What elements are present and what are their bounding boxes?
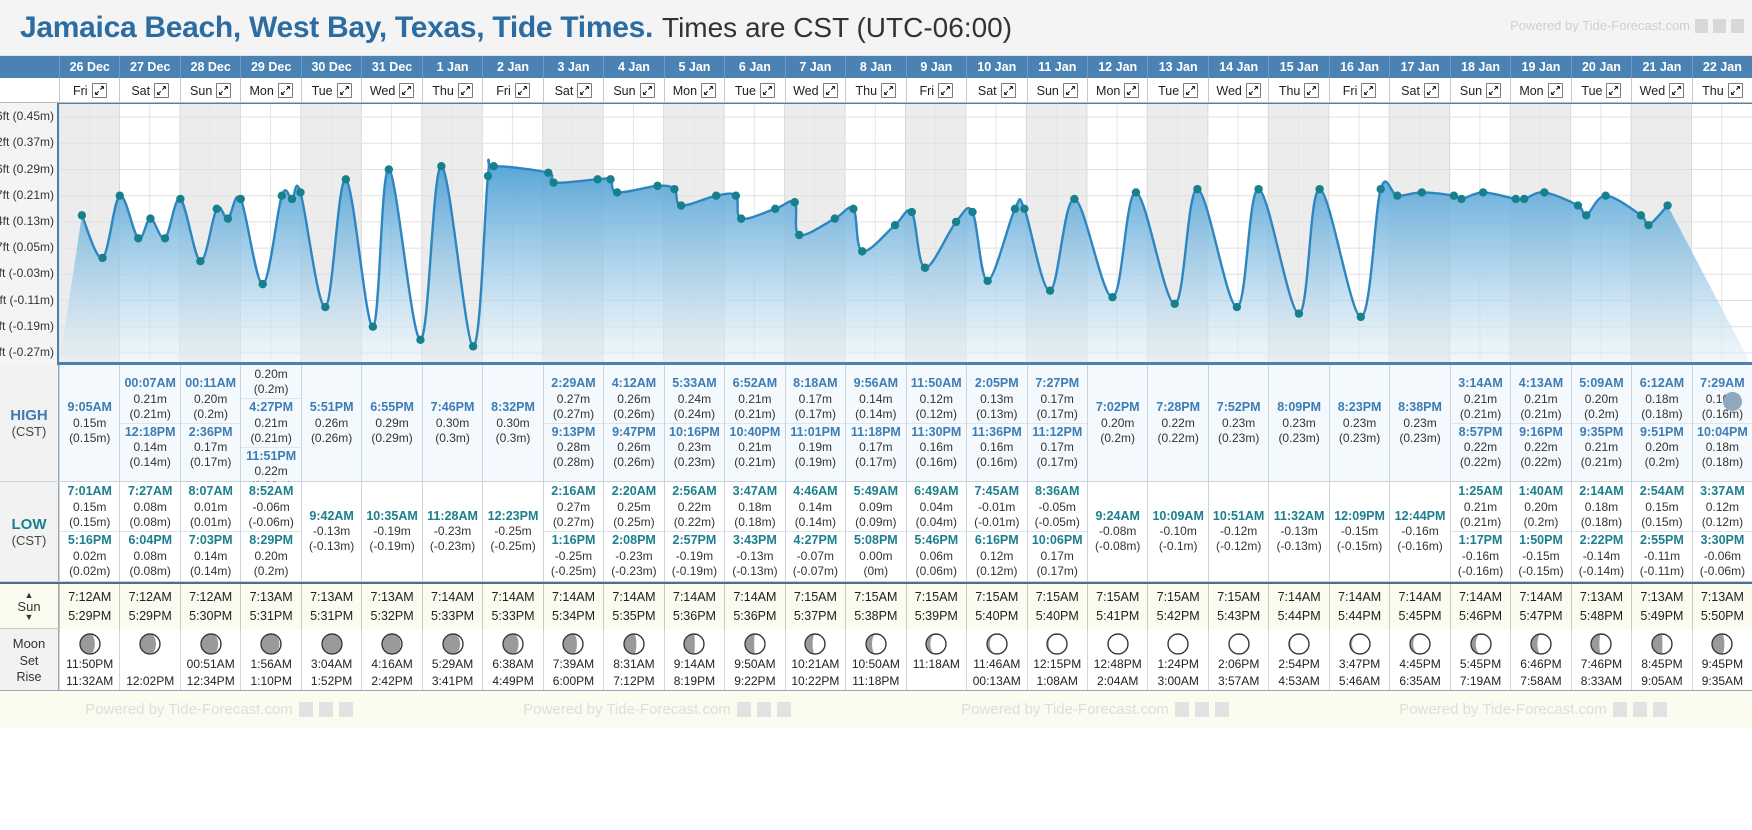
footer-watermark-2: Powered by Tide-Forecast.com — [523, 701, 791, 718]
sunset-time: 5:35PM — [612, 607, 655, 626]
high-tide-height-alt: (0.2m) — [181, 407, 240, 422]
sun-cell-27: 7:13AM5:50PM — [1692, 584, 1752, 630]
footer-icon-3c — [1215, 702, 1229, 717]
date-header-6: 1 Jan — [422, 56, 482, 78]
high-tide-time: 7:46PM — [423, 400, 482, 416]
high-tide-height: 0.30m — [423, 416, 482, 431]
low-tide-event: 1:50PM-0.15m(-0.15m) — [1511, 531, 1570, 580]
moon-cells: 11:50PM11:32AM 12:02PM00:51AM12:34PM1:56… — [59, 629, 1752, 690]
high-tide-height-alt: (0.29m) — [362, 431, 421, 446]
expand-arrows-icon[interactable] — [1728, 83, 1743, 98]
sunset-time: 5:34PM — [552, 607, 595, 626]
low-tide-cell-7: 12:23PM-0.25m(-0.25m) — [482, 482, 542, 581]
weekday-label: Sun — [1460, 84, 1482, 98]
low-tide-time: 3:47AM — [725, 484, 784, 500]
low-tide-height: -0.15m — [1330, 524, 1389, 539]
low-tide-height-alt: (-0.13m) — [1269, 539, 1328, 554]
low-tide-time: 7:03PM — [181, 533, 240, 549]
weekday-spacer — [0, 78, 59, 102]
low-tide-height-alt: (0.25m) — [604, 515, 663, 530]
low-tide-time: 3:43PM — [725, 533, 784, 549]
moonset-time: 8:45PM — [1641, 656, 1682, 673]
high-tide-time: 6:12AM — [1632, 376, 1691, 392]
high-tide-time: 5:51PM — [302, 400, 361, 416]
expand-arrows-icon[interactable] — [216, 83, 231, 98]
moonset-time: 3:04AM — [311, 656, 352, 673]
sun-cell-7: 7:14AM5:33PM — [482, 584, 542, 630]
low-tide-height: 0.12m — [1693, 500, 1752, 515]
high-tide-time: 8:57PM — [1451, 425, 1510, 441]
moonset-time: 2:06PM — [1218, 656, 1259, 673]
high-tide-event: 9:56AM0.14m(0.14m) — [846, 375, 905, 423]
sunrise-time: 7:15AM — [915, 588, 958, 607]
low-tide-cell-24: 1:40AM0.20m(0.2m)1:50PM-0.15m(-0.15m) — [1510, 482, 1570, 581]
low-tide-event: 5:46PM0.06m(0.06m) — [907, 531, 966, 580]
expand-arrows-icon[interactable] — [1486, 83, 1501, 98]
moonset-time: 2:54PM — [1278, 656, 1319, 673]
moonrise-time: 9:22PM — [734, 673, 775, 690]
moonset-time: 9:45PM — [1702, 656, 1743, 673]
moonset-time: 5:45PM — [1460, 656, 1501, 673]
sunrise-time: 7:13AM — [1640, 588, 1683, 607]
high-tide-cell-21: 8:23PM0.23m(0.23m) — [1329, 365, 1389, 481]
sunrise-time: 7:15AM — [794, 588, 837, 607]
high-tide-event: 8:57PM0.22m(0.22m) — [1451, 423, 1510, 472]
watermark-icon-3 — [1731, 19, 1744, 33]
moonrise-time: 4:49PM — [492, 673, 533, 690]
moonset-label: Set — [20, 653, 39, 669]
moonset-time: 10:21AM — [791, 656, 839, 673]
high-tide-cell-10: 5:33AM0.24m(0.24m)10:16PM0.23m(0.23m) — [664, 365, 724, 481]
low-tide-time: 2:22PM — [1572, 533, 1631, 549]
low-tide-cell-2: 8:07AM0.01m(0.01m)7:03PM0.14m(0.14m) — [180, 482, 240, 581]
high-tide-time: 9:35PM — [1572, 425, 1631, 441]
low-tide-height: -0.10m — [1148, 524, 1207, 539]
moonset-time: 11:50PM — [66, 656, 113, 673]
low-tide-height: 0.12m — [967, 549, 1026, 564]
sun-cell-18: 7:15AM5:42PM — [1147, 584, 1207, 630]
sunrise-time: 7:13AM — [310, 588, 353, 607]
moonrise-time: 00:13AM — [973, 673, 1021, 690]
sunset-time: 5:42PM — [1157, 607, 1200, 626]
high-tide-height: 0.14m — [846, 392, 905, 407]
moon-cell-21: 3:47PM5:46AM — [1329, 629, 1389, 691]
high-tide-event: 2:29AM0.27m(0.27m) — [544, 375, 603, 423]
expand-arrows-icon[interactable] — [938, 83, 953, 98]
sunrise-time: 7:15AM — [854, 588, 897, 607]
expand-arrows-icon[interactable] — [1548, 83, 1563, 98]
weekday-cell-2: Sun — [180, 78, 240, 103]
weekday-cell-10: Mon — [664, 78, 724, 103]
expand-arrows-icon[interactable] — [1001, 83, 1016, 98]
footer-watermark-text-1: Powered by Tide-Forecast.com — [85, 701, 293, 718]
sunset-time: 5:45PM — [1399, 607, 1442, 626]
expand-arrows-icon[interactable] — [399, 83, 414, 98]
low-tide-height: -0.25m — [483, 524, 542, 539]
low-tide-height: -0.06m — [241, 500, 300, 515]
low-tide-height: 0.20m — [1511, 500, 1570, 515]
y-axis-tick-4: 0.44ft (0.13m) — [0, 214, 54, 228]
expand-arrows-icon[interactable] — [1183, 83, 1198, 98]
weekday-label: Fri — [73, 84, 88, 98]
low-tide-time: 9:42AM — [302, 509, 361, 525]
low-tide-height-alt: (0.09m) — [846, 515, 905, 530]
weekday-cell-6: Thu — [422, 78, 482, 103]
low-tide-height-alt: (-0.08m) — [1088, 539, 1147, 554]
moon-phase-icon — [1650, 632, 1674, 656]
sunset-time: 5:29PM — [129, 607, 172, 626]
y-axis-tick-7: -0.35ft (-0.11m) — [0, 293, 54, 307]
high-tide-event: 6:52AM0.21m(0.21m) — [725, 375, 784, 423]
date-header-26: 21 Jan — [1631, 56, 1691, 78]
high-tide-height-alt: (0.2m) — [1088, 431, 1147, 446]
low-tide-height: -0.15m — [1511, 549, 1570, 564]
expand-arrows-icon[interactable] — [337, 83, 352, 98]
date-header-27: 22 Jan — [1692, 56, 1752, 78]
expand-arrows-icon[interactable] — [154, 83, 169, 98]
moonrise-time: 9:05AM — [1641, 673, 1682, 690]
expand-arrows-icon[interactable] — [640, 83, 655, 98]
high-tide-height: 0.21m — [241, 416, 300, 431]
low-tide-event: 12:23PM-0.25m(-0.25m) — [483, 508, 542, 556]
low-tide-height-alt: (-0.25m) — [483, 539, 542, 554]
moon-cell-4: 3:04AM1:52PM — [301, 629, 361, 691]
footer-icon-2c — [777, 702, 791, 717]
low-tide-time: 2:20AM — [604, 484, 663, 500]
expand-arrows-icon[interactable] — [1304, 83, 1319, 98]
high-tide-height: 0.22m — [241, 464, 300, 479]
high-tide-time: 7:27PM — [1028, 376, 1087, 392]
expand-arrows-icon[interactable] — [1361, 83, 1376, 98]
low-tide-event: 11:28AM-0.23m(-0.23m) — [423, 508, 482, 556]
low-tide-height-alt: (0.18m) — [725, 515, 784, 530]
high-tide-event: 8:32PM0.30m(0.3m) — [483, 399, 542, 447]
moon-phase-icon — [1166, 632, 1190, 656]
moon-cell-11: 9:50AM9:22PM — [724, 629, 784, 691]
date-header-20: 15 Jan — [1268, 56, 1328, 78]
tide-forecast-page: Jamaica Beach, West Bay, Texas, Tide Tim… — [0, 0, 1752, 830]
high-tide-event: 8:09PM0.23m(0.23m) — [1269, 399, 1328, 447]
weekday-cell-27: Thu — [1692, 78, 1752, 103]
high-tide-height: 0.20m — [1632, 440, 1691, 455]
high-tide-height-alt: (0.21m) — [120, 407, 179, 422]
low-tide-time: 1:16PM — [544, 533, 603, 549]
expand-arrows-icon[interactable] — [1124, 83, 1139, 98]
high-tide-height: 0.19m — [786, 440, 845, 455]
low-tide-height-alt: (-0.06m) — [1693, 564, 1752, 579]
low-tide-cell-5: 10:35AM-0.19m(-0.19m) — [361, 482, 421, 581]
moon-phase-icon — [320, 632, 344, 656]
sunset-time: 5:47PM — [1519, 607, 1562, 626]
expand-arrows-icon[interactable] — [577, 83, 592, 98]
low-tide-height: 0.17m — [1028, 549, 1087, 564]
low-tide-event: 6:16PM0.12m(0.12m) — [967, 531, 1026, 580]
date-header-17: 12 Jan — [1087, 56, 1147, 78]
low-tide-height: 0.25m — [604, 500, 663, 515]
low-tide-event: 11:32AM-0.13m(-0.13m) — [1269, 508, 1328, 556]
low-tide-event: 3:37AM0.12m(0.12m) — [1693, 483, 1752, 531]
high-tide-row: HIGH (CST) 9:05AM0.15m(0.15m)00:07AM0.21… — [0, 365, 1752, 482]
low-tide-event: 6:04PM0.08m(0.08m) — [120, 531, 179, 580]
high-tide-height-alt: (0.2m) — [241, 382, 300, 397]
high-tide-height-alt: (0.19m) — [786, 455, 845, 470]
date-header-row: 26 Dec27 Dec28 Dec29 Dec30 Dec31 Dec1 Ja… — [0, 56, 1752, 78]
high-tide-cell-27: 7:29AM0.16m(0.16m)10:04PM0.18m(0.18m) — [1692, 365, 1752, 481]
chart-y-axis: 1.46ft (0.45m)1.22ft (0.37m)0.96ft (0.29… — [0, 103, 59, 365]
high-tide-time: 11:51PM — [241, 449, 300, 465]
moonrise-time: 6:00PM — [553, 673, 594, 690]
sun-cell-1: 7:12AM5:29PM — [119, 584, 179, 630]
high-tide-height: 0.15m — [60, 416, 119, 431]
high-tide-height: 0.20m — [1088, 416, 1147, 431]
sun-cell-25: 7:13AM5:48PM — [1571, 584, 1631, 630]
high-tide-event: 9:05AM0.15m(0.15m) — [60, 399, 119, 447]
low-tide-event: 2:57PM-0.19m(-0.19m) — [665, 531, 724, 580]
date-header-spacer — [0, 56, 59, 78]
sun-row: ▲ Sun ▼ 7:12AM5:29PM7:12AM5:29PM7:12AM5:… — [0, 582, 1752, 628]
high-tide-time: 12:18PM — [120, 425, 179, 441]
low-tide-row: LOW (CST) 7:01AM0.15m(0.15m)5:16PM0.02m(… — [0, 482, 1752, 582]
moonset-time: 1:56AM — [250, 656, 291, 673]
high-tide-height-alt: (0.24m) — [665, 407, 724, 422]
page-footer: Powered by Tide-Forecast.com Powered by … — [0, 690, 1752, 728]
high-tide-height-alt: (0.23m) — [1269, 431, 1328, 446]
date-header-4: 30 Dec — [301, 56, 361, 78]
low-tide-height-alt: (-0.12m) — [1209, 539, 1268, 554]
high-tide-height-alt: (0.23m) — [1209, 431, 1268, 446]
weekday-cell-3: Mon — [240, 78, 300, 103]
weekday-label: Thu — [1702, 84, 1724, 98]
weekday-label: Sat — [1401, 84, 1420, 98]
high-tide-height-alt: (0.23m) — [1330, 431, 1389, 446]
sun-label-text: Sun — [17, 600, 40, 613]
sunset-time: 5:39PM — [915, 607, 958, 626]
low-tide-cell-4: 9:42AM-0.13m(-0.13m) — [301, 482, 361, 581]
low-tide-time: 1:25AM — [1451, 484, 1510, 500]
high-tide-height-alt: (0.27m) — [544, 407, 603, 422]
high-tide-event: 7:27PM0.17m(0.17m) — [1028, 375, 1087, 423]
footer-icon-3a — [1175, 702, 1189, 717]
sunset-time: 5:43PM — [1217, 607, 1260, 626]
low-tide-time: 11:28AM — [423, 509, 482, 525]
low-tide-height: 0.15m — [60, 500, 119, 515]
high-label-tz: (CST) — [12, 424, 47, 439]
moon-phase-icon — [561, 632, 585, 656]
high-tide-height: 0.17m — [1028, 392, 1087, 407]
low-tide-height: 0.14m — [181, 549, 240, 564]
footer-watermark-text-4: Powered by Tide-Forecast.com — [1399, 701, 1607, 718]
high-tide-height: 0.24m — [665, 392, 724, 407]
weekday-label: Sat — [555, 84, 574, 98]
high-tide-time: 9:13PM — [544, 425, 603, 441]
moonrise-time: 8:19PM — [674, 673, 715, 690]
high-tide-height: 0.30m — [483, 416, 542, 431]
high-tide-time: 11:12PM — [1028, 425, 1087, 441]
low-tide-event: 3:47AM0.18m(0.18m) — [725, 483, 784, 531]
expand-arrows-icon[interactable] — [515, 83, 530, 98]
low-tide-time: 6:49AM — [907, 484, 966, 500]
sun-cells: 7:12AM5:29PM7:12AM5:29PM7:12AM5:30PM7:13… — [59, 584, 1752, 628]
moonrise-time: 11:18PM — [852, 673, 899, 690]
page-title: Jamaica Beach, West Bay, Texas, Tide Tim… — [20, 11, 653, 45]
low-tide-height-alt: (0.14m) — [786, 515, 845, 530]
date-header-5: 31 Dec — [361, 56, 421, 78]
high-tide-height: 0.20m — [241, 367, 300, 382]
low-tide-height: 0.08m — [120, 549, 179, 564]
moonset-time: 12:15PM — [1033, 656, 1081, 673]
weekday-label: Thu — [1279, 84, 1301, 98]
weekday-cell-15: Sat — [966, 78, 1026, 103]
low-tide-event: 10:35AM-0.19m(-0.19m) — [362, 508, 421, 556]
expand-arrows-icon[interactable] — [823, 83, 838, 98]
sunrise-time: 7:14AM — [552, 588, 595, 607]
low-tide-height-alt: (0.27m) — [544, 515, 603, 530]
high-tide-height-alt: (0.3m) — [423, 431, 482, 446]
high-tide-height: 0.23m — [665, 440, 724, 455]
low-tide-height: -0.11m — [1632, 549, 1691, 564]
expand-arrows-icon[interactable] — [1063, 83, 1078, 98]
high-tide-height-alt: (0.16m) — [907, 455, 966, 470]
expand-arrows-icon[interactable] — [881, 83, 896, 98]
expand-arrows-icon[interactable] — [701, 83, 716, 98]
moon-cell-5: 4:16AM2:42PM — [361, 629, 421, 691]
expand-arrows-icon[interactable] — [1606, 83, 1621, 98]
moonrise-time — [935, 673, 938, 690]
low-tide-event: 2:54AM0.15m(0.15m) — [1632, 483, 1691, 531]
sun-cell-0: 7:12AM5:29PM — [59, 584, 119, 630]
high-tide-cell-17: 7:02PM0.20m(0.2m) — [1087, 365, 1147, 481]
date-header-25: 20 Jan — [1571, 56, 1631, 78]
sun-cell-2: 7:12AM5:30PM — [180, 584, 240, 630]
low-tide-cell-6: 11:28AM-0.23m(-0.23m) — [422, 482, 482, 581]
high-tide-cells: 9:05AM0.15m(0.15m)00:07AM0.21m(0.21m)12:… — [59, 365, 1752, 481]
low-tide-time: 7:45AM — [967, 484, 1026, 500]
high-tide-height-alt: (0.21m) — [241, 431, 300, 446]
moon-phase-icon — [380, 632, 404, 656]
low-tide-cell-15: 7:45AM-0.01m(-0.01m)6:16PM0.12m(0.12m) — [966, 482, 1026, 581]
date-header-3: 29 Dec — [240, 56, 300, 78]
date-header-9: 4 Jan — [603, 56, 663, 78]
low-tide-height: 0.14m — [786, 500, 845, 515]
sunrise-time: 7:15AM — [975, 588, 1018, 607]
footer-icon-1c — [339, 702, 353, 717]
sunset-time: 5:48PM — [1580, 607, 1623, 626]
moon-cell-8: 7:39AM6:00PM — [543, 629, 603, 691]
moon-cell-24: 6:46PM7:58AM — [1510, 629, 1570, 691]
expand-arrows-icon[interactable] — [92, 83, 107, 98]
low-tide-time: 8:29PM — [241, 533, 300, 549]
high-tide-cell-0: 9:05AM0.15m(0.15m) — [59, 365, 119, 481]
low-tide-cell-20: 11:32AM-0.13m(-0.13m) — [1268, 482, 1328, 581]
high-tide-height-alt: (0.26m) — [604, 455, 663, 470]
watermark-icon-2 — [1713, 19, 1726, 33]
moonrise-time: 4:53AM — [1278, 673, 1319, 690]
sunrise-time: 7:15AM — [1096, 588, 1139, 607]
high-tide-event: 12:18PM0.14m(0.14m) — [120, 423, 179, 472]
sunset-time: 5:33PM — [431, 607, 474, 626]
low-tide-time: 11:32AM — [1269, 509, 1328, 525]
moon-label: Moon Set Rise — [0, 629, 59, 690]
date-header-13: 8 Jan — [845, 56, 905, 78]
high-tide-height-alt: (0.15m) — [60, 431, 119, 446]
low-tide-height: 0.18m — [725, 500, 784, 515]
moonset-time: 3:47PM — [1339, 656, 1380, 673]
date-cells: 26 Dec27 Dec28 Dec29 Dec30 Dec31 Dec1 Ja… — [59, 56, 1752, 78]
high-tide-event: 4:27PM0.21m(0.21m) — [241, 398, 300, 447]
low-tide-event: 1:25AM0.21m(0.21m) — [1451, 483, 1510, 531]
low-tide-height-alt: (0.04m) — [907, 515, 966, 530]
tide-chart[interactable] — [59, 103, 1752, 365]
high-tide-time: 5:09AM — [1572, 376, 1631, 392]
moon-phase-icon — [1589, 632, 1613, 656]
expand-arrows-icon[interactable] — [1669, 83, 1684, 98]
expand-arrows-icon[interactable] — [458, 83, 473, 98]
high-tide-cell-6: 7:46PM0.30m(0.3m) — [422, 365, 482, 481]
moonrise-time: 5:46AM — [1339, 673, 1380, 690]
moonrise-time: 7:19AM — [1460, 673, 1501, 690]
high-tide-event: 00:11AM0.20m(0.2m) — [181, 375, 240, 423]
low-tide-event: 1:17PM-0.16m(-0.16m) — [1451, 531, 1510, 580]
high-tide-height: 0.20m — [181, 392, 240, 407]
low-tide-cell-0: 7:01AM0.15m(0.15m)5:16PM0.02m(0.02m) — [59, 482, 119, 581]
y-axis-tick-5: 0.17ft (0.05m) — [0, 240, 54, 254]
low-tide-event: 10:06PM0.17m(0.17m) — [1028, 531, 1087, 580]
expand-arrows-icon[interactable] — [278, 83, 293, 98]
high-tide-height: 0.21m — [725, 392, 784, 407]
footer-watermark-1: Powered by Tide-Forecast.com — [85, 701, 353, 718]
weekday-cell-17: Mon — [1087, 78, 1147, 103]
weekday-cell-9: Sun — [603, 78, 663, 103]
high-tide-height-alt: (0.21m) — [1451, 407, 1510, 422]
high-tide-height: 0.23m — [1209, 416, 1268, 431]
low-tide-height: 0.20m — [241, 549, 300, 564]
low-tide-height-alt: (0.22m) — [665, 515, 724, 530]
low-tide-height: -0.12m — [1209, 524, 1268, 539]
sunset-time: 5:38PM — [854, 607, 897, 626]
footer-icon-1a — [299, 702, 313, 717]
footer-watermark-4: Powered by Tide-Forecast.com — [1399, 701, 1667, 718]
expand-arrows-icon[interactable] — [1424, 83, 1439, 98]
low-tide-height: -0.16m — [1451, 549, 1510, 564]
moonrise-time: 7:12PM — [613, 673, 654, 690]
high-tide-event: 5:33AM0.24m(0.24m) — [665, 375, 724, 423]
expand-arrows-icon[interactable] — [1246, 83, 1261, 98]
low-tide-time: 8:52AM — [241, 484, 300, 500]
low-tide-event: 9:42AM-0.13m(-0.13m) — [302, 508, 361, 556]
sunrise-time: 7:15AM — [1157, 588, 1200, 607]
low-tide-height-alt: (0.18m) — [1572, 515, 1631, 530]
sunrise-time: 7:14AM — [431, 588, 474, 607]
moonset-time: 9:14AM — [674, 656, 715, 673]
high-tide-height: 0.12m — [907, 392, 966, 407]
low-tide-time: 1:50PM — [1511, 533, 1570, 549]
expand-arrows-icon[interactable] — [760, 83, 775, 98]
weekday-label: Wed — [1216, 84, 1241, 98]
moonrise-time: 3:57AM — [1218, 673, 1259, 690]
weekday-cell-25: Tue — [1571, 78, 1631, 103]
low-tide-height: -0.16m — [1390, 524, 1449, 539]
moon-cell-0: 11:50PM11:32AM — [59, 629, 119, 691]
high-tide-cell-8: 2:29AM0.27m(0.27m)9:13PM0.28m(0.28m) — [543, 365, 603, 481]
high-tide-event: 8:38PM0.23m(0.23m) — [1390, 399, 1449, 447]
scroll-handle[interactable] — [1723, 392, 1742, 411]
sunrise-time: 7:12AM — [68, 588, 111, 607]
footer-icon-3b — [1195, 702, 1209, 717]
moonrise-time: 7:58AM — [1520, 673, 1561, 690]
date-header-15: 10 Jan — [966, 56, 1026, 78]
low-tide-height: -0.08m — [1088, 524, 1147, 539]
high-tide-cell-7: 8:32PM0.30m(0.3m) — [482, 365, 542, 481]
